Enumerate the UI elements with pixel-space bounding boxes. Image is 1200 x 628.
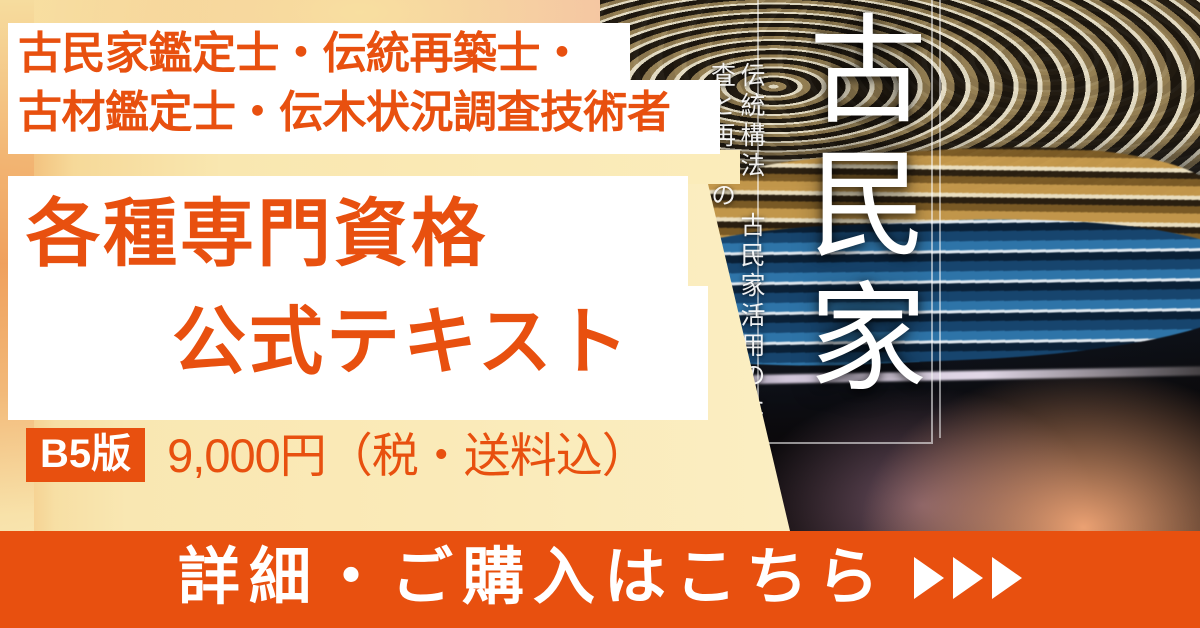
main-title: 各種専門資格 公式テキスト (14, 180, 714, 396)
triangle-right-icon (914, 557, 944, 599)
cta-bar[interactable]: 詳細・ご購入はこちら (0, 531, 1200, 628)
main-title-line-1: 各種専門資格 (14, 180, 714, 288)
price-amount: 9,000円（税・送料込） (167, 432, 648, 479)
cta-label: 詳細・ご購入はこちら (178, 547, 888, 613)
cta-arrows (914, 557, 1022, 603)
triangle-right-icon (953, 557, 983, 599)
headline-line-1: 古民家鑑定士・伝統再築士・ (18, 24, 718, 83)
triangle-right-icon (992, 557, 1022, 599)
promo-banner: 伝統構法 古民家活用のための調査と再生の 古民家 古民家鑑定士・伝統再築士・ 古… (0, 0, 1200, 628)
main-title-line-2: 公式テキスト (14, 288, 714, 396)
headline-line-2: 古材鑑定士・伝木状況調査技術者 (18, 83, 718, 142)
price-row: B5版 9,000円（税・送料込） (26, 428, 648, 482)
qualification-headline: 古民家鑑定士・伝統再築士・ 古材鑑定士・伝木状況調査技術者 (18, 24, 718, 142)
book-cover-title: 古民家 (788, 8, 923, 410)
format-badge: B5版 (26, 428, 145, 482)
cover-frame-line-right (939, 0, 1199, 438)
